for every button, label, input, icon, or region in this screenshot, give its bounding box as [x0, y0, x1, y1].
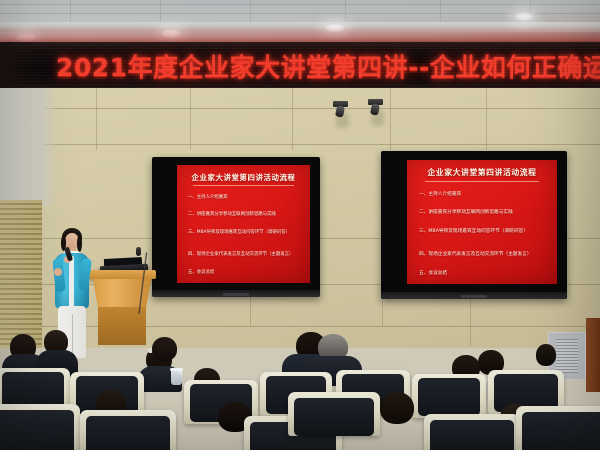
ceiling-camera-right-icon [368, 99, 383, 111]
seat-pad-front-2 [86, 416, 170, 450]
right-slide-item-1: 一、主持人介绍嘉宾 [419, 191, 461, 197]
right-slide-title: 企业家大讲堂第四讲活动流程 [407, 167, 557, 178]
seat-pad-front-4 [294, 398, 374, 436]
presenter-hand-gesture [54, 268, 62, 276]
left-slide-title: 企业家大讲堂第四讲活动流程 [177, 172, 310, 183]
wood-trim-post [586, 318, 600, 392]
led-banner: 2021年度企业家大讲堂第四讲--企业如何正确运用移动 [0, 42, 600, 90]
left-slide-item-4: 四、现场企业家代表发言及互动交流环节（主题发言） [188, 251, 293, 257]
right-display-slide: 企业家大讲堂第四讲活动流程 一、主持人介绍嘉宾 二、讲座嘉宾分享移动互联网创新思… [407, 160, 557, 284]
right-display: 企业家大讲堂第四讲活动流程 一、主持人介绍嘉宾 二、讲座嘉宾分享移动互联网创新思… [381, 151, 567, 299]
right-display-brand-plate [461, 295, 487, 298]
presenter-jacket-placket [69, 256, 74, 308]
presenter-hair-side-right [77, 236, 82, 252]
audience-head-back-5 [152, 337, 177, 361]
downlight-4 [514, 12, 534, 21]
seat-pad-front-5 [430, 420, 514, 450]
seat-pad-mid-1 [2, 372, 64, 408]
right-slide-item-5: 五、会议总结 [419, 270, 447, 276]
ceiling-camera-left-icon [333, 101, 348, 113]
right-slide-item-2: 二、讲座嘉宾分享移动互联网创新思路与实践 [419, 209, 513, 215]
left-display: 企业家大讲堂第四讲活动流程 一、主持人介绍嘉宾 二、讲座嘉宾分享移动互联网创新思… [152, 157, 320, 297]
left-slide-item-1: 一、主持人介绍嘉宾 [188, 194, 228, 200]
left-display-brand-plate [223, 293, 249, 296]
lectern-top [88, 270, 156, 279]
lectern-mic-head [136, 247, 141, 256]
left-slide-item-3: 三、MBA导师及现场嘉宾互动问答环节（调研问答） [188, 229, 290, 235]
conference-hall-photo: 2021年度企业家大讲堂第四讲--企业如何正确运用移动 企业家大讲堂第四讲活动流… [0, 0, 600, 450]
left-slide-item-2: 二、讲座嘉宾分享移动互联网创新思路与实践 [188, 211, 276, 217]
left-slide-item-5: 五、会议总结 [188, 269, 214, 275]
seat-pad-front-6 [522, 412, 600, 450]
right-slide-item-3: 三、MBA导师及现场嘉宾互动问答环节（调研问答） [419, 228, 528, 234]
audience-head-front-3 [380, 392, 414, 424]
wood-slat-panel [0, 200, 42, 348]
seat-pad-front-1 [0, 410, 74, 450]
left-display-slide: 企业家大讲堂第四讲活动流程 一、主持人介绍嘉宾 二、讲座嘉宾分享移动互联网创新思… [177, 165, 310, 283]
presenter-trouser-seam [72, 314, 73, 358]
led-banner-text: 2021年度企业家大讲堂第四讲--企业如何正确运用移动 [56, 48, 600, 84]
ceiling [0, 0, 600, 48]
drink-cup [171, 370, 182, 385]
right-slide-item-4: 四、现场企业家代表发言及互动交流环节（主题发言） [419, 251, 532, 257]
seat-pad-mid-6 [418, 378, 480, 416]
drink-cup-lid [170, 368, 183, 371]
wall-left-light-patch [0, 88, 58, 206]
audience-head-back-10 [536, 344, 556, 366]
led-banner-left-shadow [0, 42, 38, 90]
